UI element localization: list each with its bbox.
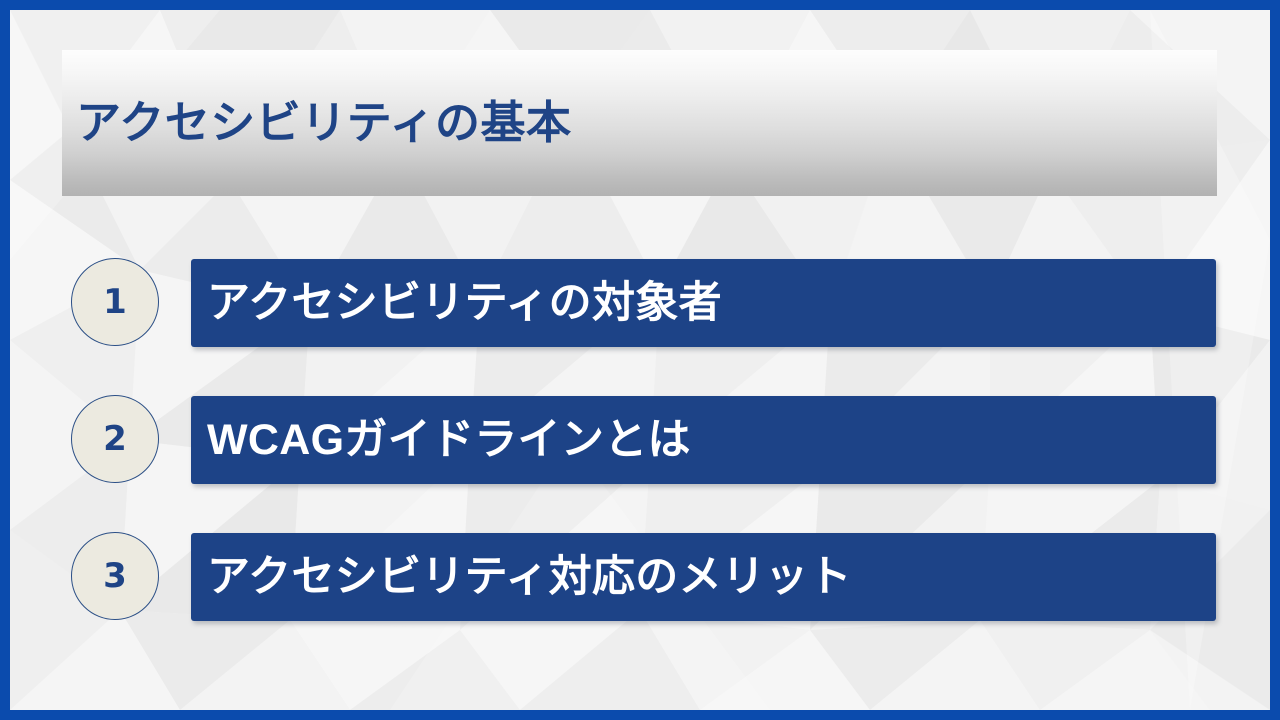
- slide-canvas: アクセシビリティの基本 1 アクセシビリティの対象者 2 WCAGガイドラインと…: [0, 0, 1280, 720]
- slide-border-top: [0, 0, 1280, 10]
- slide-border-right: [1270, 0, 1280, 720]
- list-item[interactable]: 3 アクセシビリティ対応のメリット: [0, 531, 1280, 623]
- list-item[interactable]: 2 WCAGガイドラインとは: [0, 394, 1280, 486]
- list-item-label: WCAGガイドラインとは: [207, 419, 691, 462]
- list-item-number-badge: 3: [71, 532, 159, 620]
- slide-border-left: [0, 0, 10, 720]
- slide-border-bottom: [0, 710, 1280, 720]
- list-item-number-badge: 2: [71, 395, 159, 483]
- list-item-label: アクセシビリティの対象者: [207, 282, 722, 325]
- list-item-bar[interactable]: WCAGガイドラインとは: [191, 396, 1216, 484]
- list-item[interactable]: 1 アクセシビリティの対象者: [0, 257, 1280, 349]
- list-item-number-badge: 1: [71, 258, 159, 346]
- list-item-bar[interactable]: アクセシビリティの対象者: [191, 259, 1216, 347]
- list-item-label: アクセシビリティ対応のメリット: [207, 556, 852, 599]
- agenda-list: 1 アクセシビリティの対象者 2 WCAGガイドラインとは 3 アクセシビリティ…: [0, 0, 1280, 720]
- list-item-bar[interactable]: アクセシビリティ対応のメリット: [191, 533, 1216, 621]
